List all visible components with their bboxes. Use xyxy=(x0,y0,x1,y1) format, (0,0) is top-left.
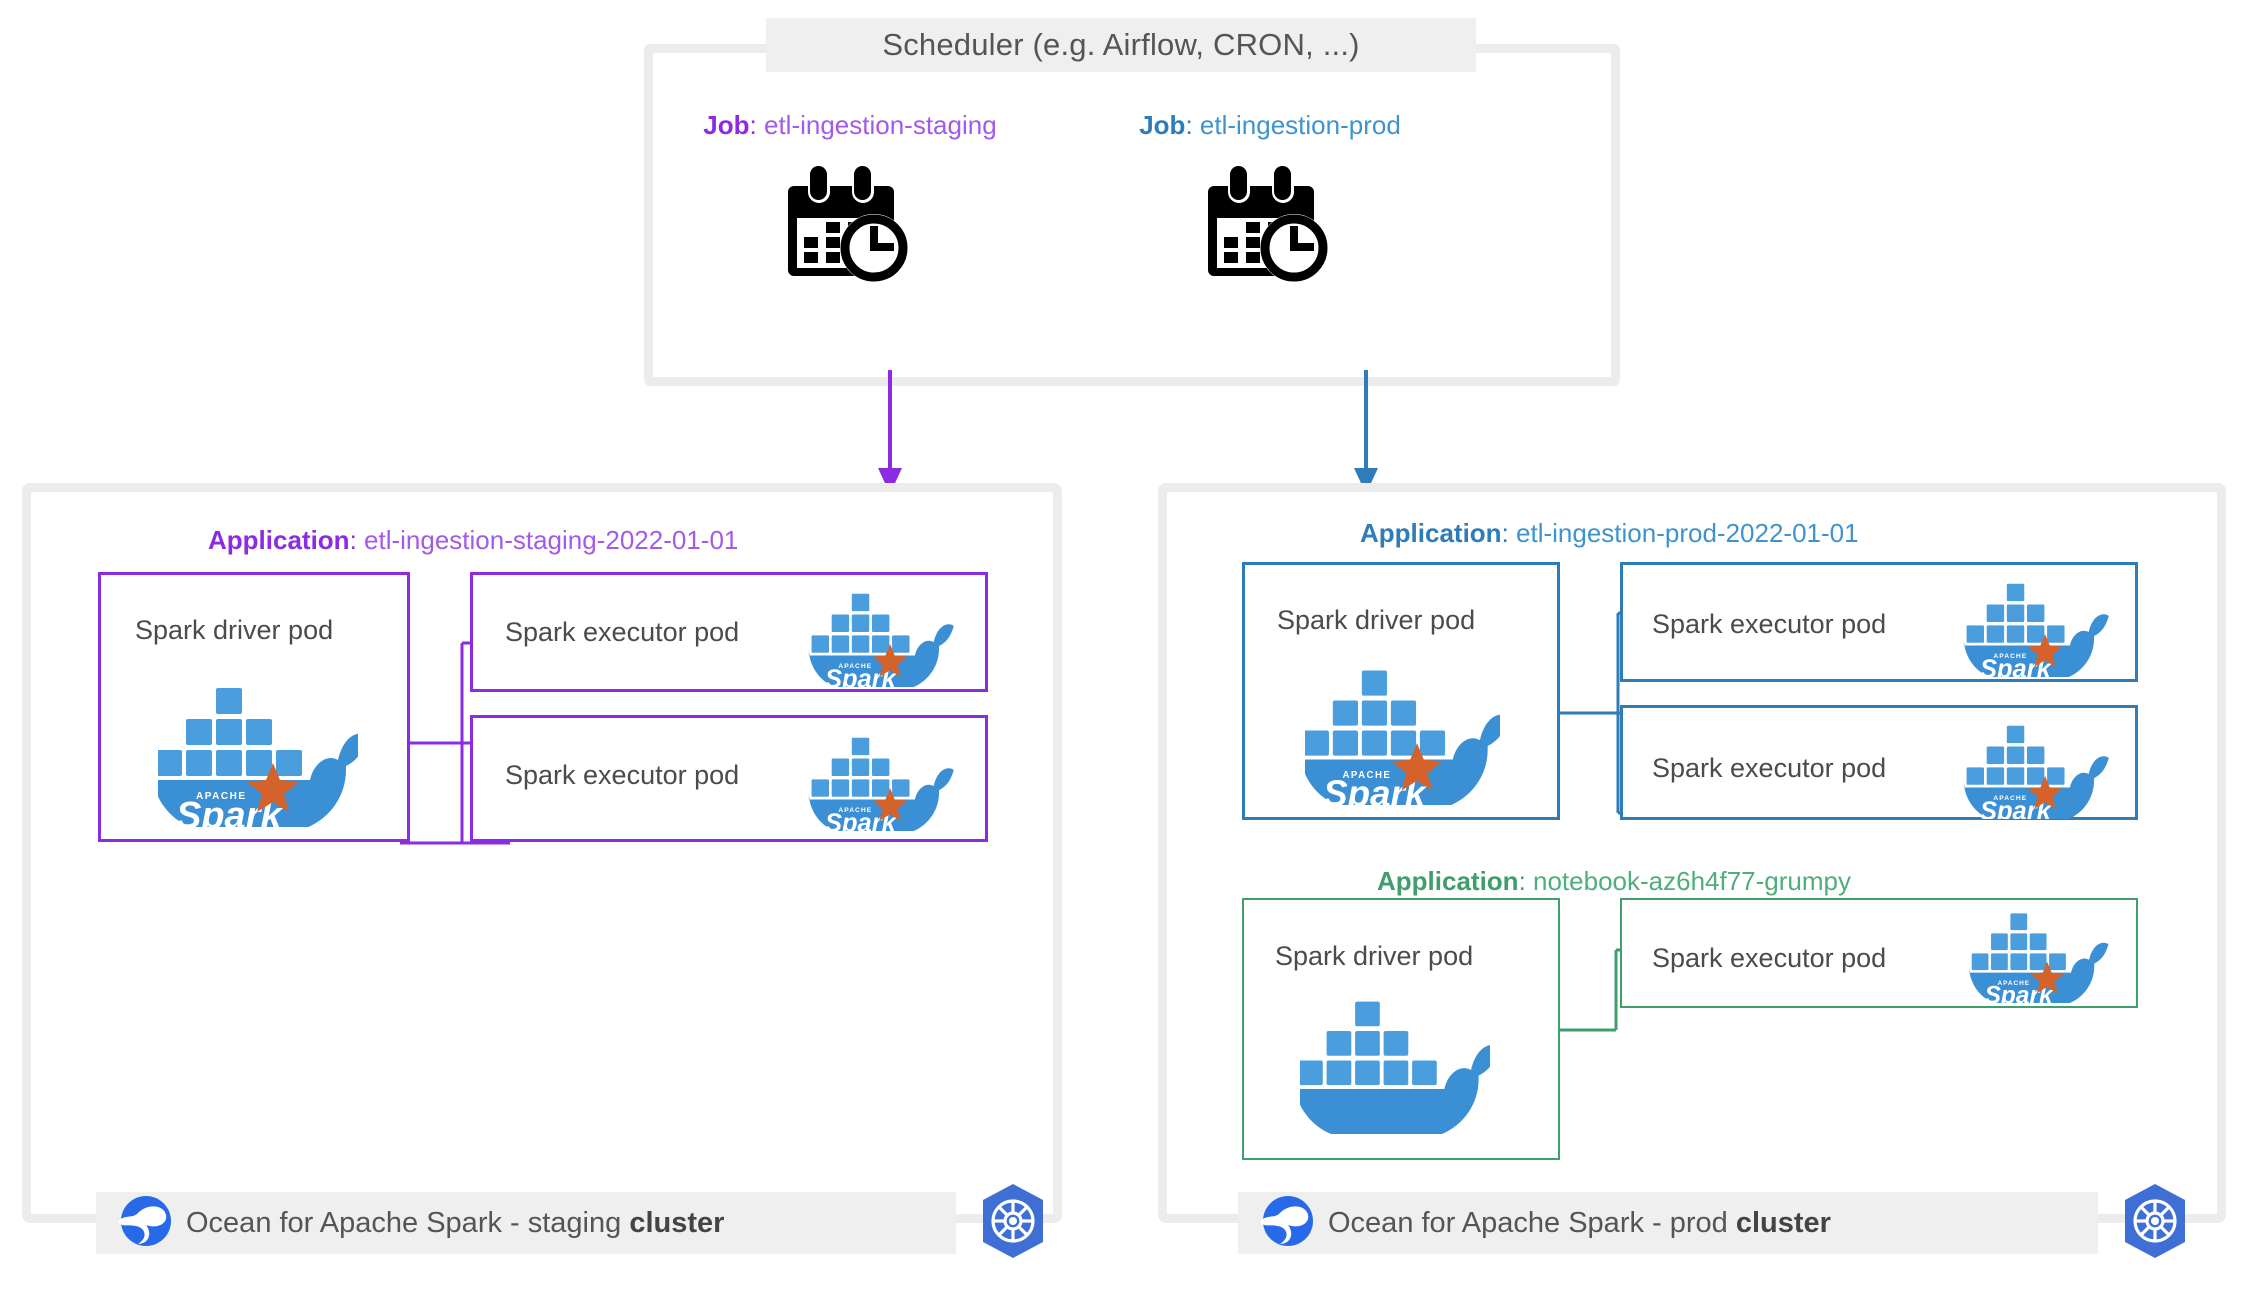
pod-label-executor-staging-2: Spark executor pod xyxy=(505,762,739,789)
application-separator: : xyxy=(350,525,364,555)
job-label-staging: Job: etl-ingestion-staging xyxy=(640,112,1060,138)
scheduler-title-bar: Scheduler (e.g. Airflow, CRON, ...) xyxy=(766,18,1476,72)
docker-whale-icon xyxy=(1300,986,1490,1139)
cluster-footer-staging: Ocean for Apache Spark - staging cluster xyxy=(96,1192,956,1254)
application-name: notebook-az6h4f77-grumpy xyxy=(1533,866,1851,896)
pod-label-executor-prod-1: Spark executor pod xyxy=(1652,611,1886,638)
application-prefix: Application xyxy=(1377,866,1519,896)
application-separator: : xyxy=(1502,518,1516,548)
pod-label-executor-notebook: Spark executor pod xyxy=(1652,945,1886,972)
application-title-prod: Application: etl-ingestion-prod-2022-01-… xyxy=(1360,520,1859,546)
cluster-footer-prefix: Ocean for Apache Spark - prod xyxy=(1328,1207,1736,1239)
kubernetes-icon xyxy=(978,1183,1048,1302)
pod-label-driver-notebook: Spark driver pod xyxy=(1275,943,1473,970)
job-separator: : xyxy=(1185,110,1199,140)
pod-label-executor-prod-2: Spark executor pod xyxy=(1652,755,1886,782)
docker-spark-whale-icon: APACHE Spark xyxy=(800,727,960,836)
calendar-clock-icon xyxy=(788,164,912,287)
docker-spark-whale-icon: APACHE Spark xyxy=(1305,655,1500,810)
job-icon-wrap-staging xyxy=(640,164,1060,287)
job-card-staging: Job: etl-ingestion-staging xyxy=(640,112,1060,362)
docker-spark-whale-icon: APACHE Spark xyxy=(1955,715,2115,824)
pod-label-driver-prod: Spark driver pod xyxy=(1277,607,1475,634)
cluster-footer-prod: Ocean for Apache Spark - prod cluster xyxy=(1238,1192,2098,1254)
job-prefix: Job xyxy=(1139,110,1185,140)
docker-spark-whale-icon: APACHE Spark xyxy=(800,583,960,692)
application-title-staging: Application: etl-ingestion-staging-2022-… xyxy=(208,527,738,553)
application-prefix: Application xyxy=(208,525,350,555)
job-prefix: Job xyxy=(703,110,749,140)
job-label-prod: Job: etl-ingestion-prod xyxy=(1060,112,1480,138)
docker-spark-whale-icon: APACHE Spark xyxy=(1955,573,2115,682)
cluster-footer-bold: cluster xyxy=(1736,1207,1831,1239)
arrow-scheduler-to-prod xyxy=(1346,370,1386,500)
ocean-spot-logo xyxy=(1258,1193,1314,1254)
scheduler-title: Scheduler (e.g. Airflow, CRON, ...) xyxy=(882,27,1359,63)
ocean-spot-logo xyxy=(116,1193,172,1254)
application-prefix: Application xyxy=(1360,518,1502,548)
application-name: etl-ingestion-staging-2022-01-01 xyxy=(364,525,738,555)
cluster-footer-prefix: Ocean for Apache Spark - staging xyxy=(186,1207,629,1239)
arrow-scheduler-to-staging xyxy=(870,370,910,500)
job-name: etl-ingestion-staging xyxy=(764,110,997,140)
application-name: etl-ingestion-prod-2022-01-01 xyxy=(1516,518,1859,548)
calendar-clock-icon xyxy=(1208,164,1332,287)
pod-label-driver-staging: Spark driver pod xyxy=(135,617,333,644)
cluster-footer-text-prod: Ocean for Apache Spark - prod cluster xyxy=(1328,1207,1831,1240)
job-icon-wrap-prod xyxy=(1060,164,1480,287)
job-card-prod: Job: etl-ingestion-prod xyxy=(1060,112,1480,362)
application-separator: : xyxy=(1519,866,1533,896)
application-title-notebook: Application: notebook-az6h4f77-grumpy xyxy=(1377,868,1851,894)
kubernetes-icon xyxy=(2120,1183,2190,1302)
job-name: etl-ingestion-prod xyxy=(1200,110,1401,140)
cluster-footer-bold: cluster xyxy=(629,1207,724,1239)
docker-spark-whale-icon: APACHE Spark xyxy=(158,672,358,832)
job-separator: : xyxy=(750,110,764,140)
cluster-footer-text-staging: Ocean for Apache Spark - staging cluster xyxy=(186,1207,724,1240)
docker-spark-whale-icon: APACHE Spark xyxy=(1960,903,2115,1008)
pod-label-executor-staging-1: Spark executor pod xyxy=(505,619,739,646)
